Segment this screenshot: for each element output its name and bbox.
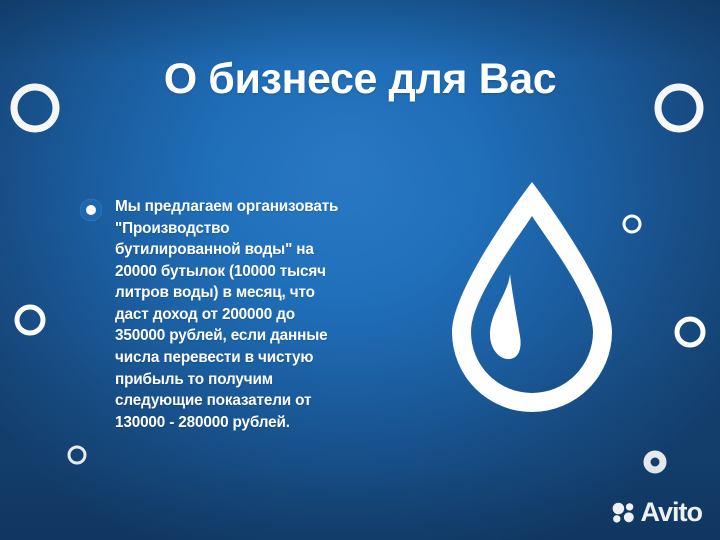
bullet-text: Мы предлагаем организовать "Производство…	[115, 196, 338, 433]
avito-watermark: Avito	[612, 499, 703, 526]
avito-dots-icon	[612, 502, 636, 523]
slide-canvas: О бизнесе для Вас Мы предлагаем организо…	[0, 0, 720, 540]
ring-circle-bottom-left	[69, 447, 85, 463]
list-item: Мы предлагаем организовать "Производство…	[80, 196, 380, 433]
water-drop-highlight	[490, 274, 521, 359]
water-drop-outline	[452, 182, 612, 412]
water-drop-icon	[452, 182, 612, 414]
ring-circle-mid-left	[17, 307, 43, 333]
ring-circle-bottom-right	[647, 454, 663, 470]
avito-wordmark: Avito	[641, 499, 703, 526]
page-title: О бизнесе для Вас	[0, 57, 720, 102]
ring-circle-small-right	[624, 216, 640, 232]
donut-bullet-icon	[80, 199, 102, 221]
ring-circle-mid-right	[677, 319, 703, 345]
